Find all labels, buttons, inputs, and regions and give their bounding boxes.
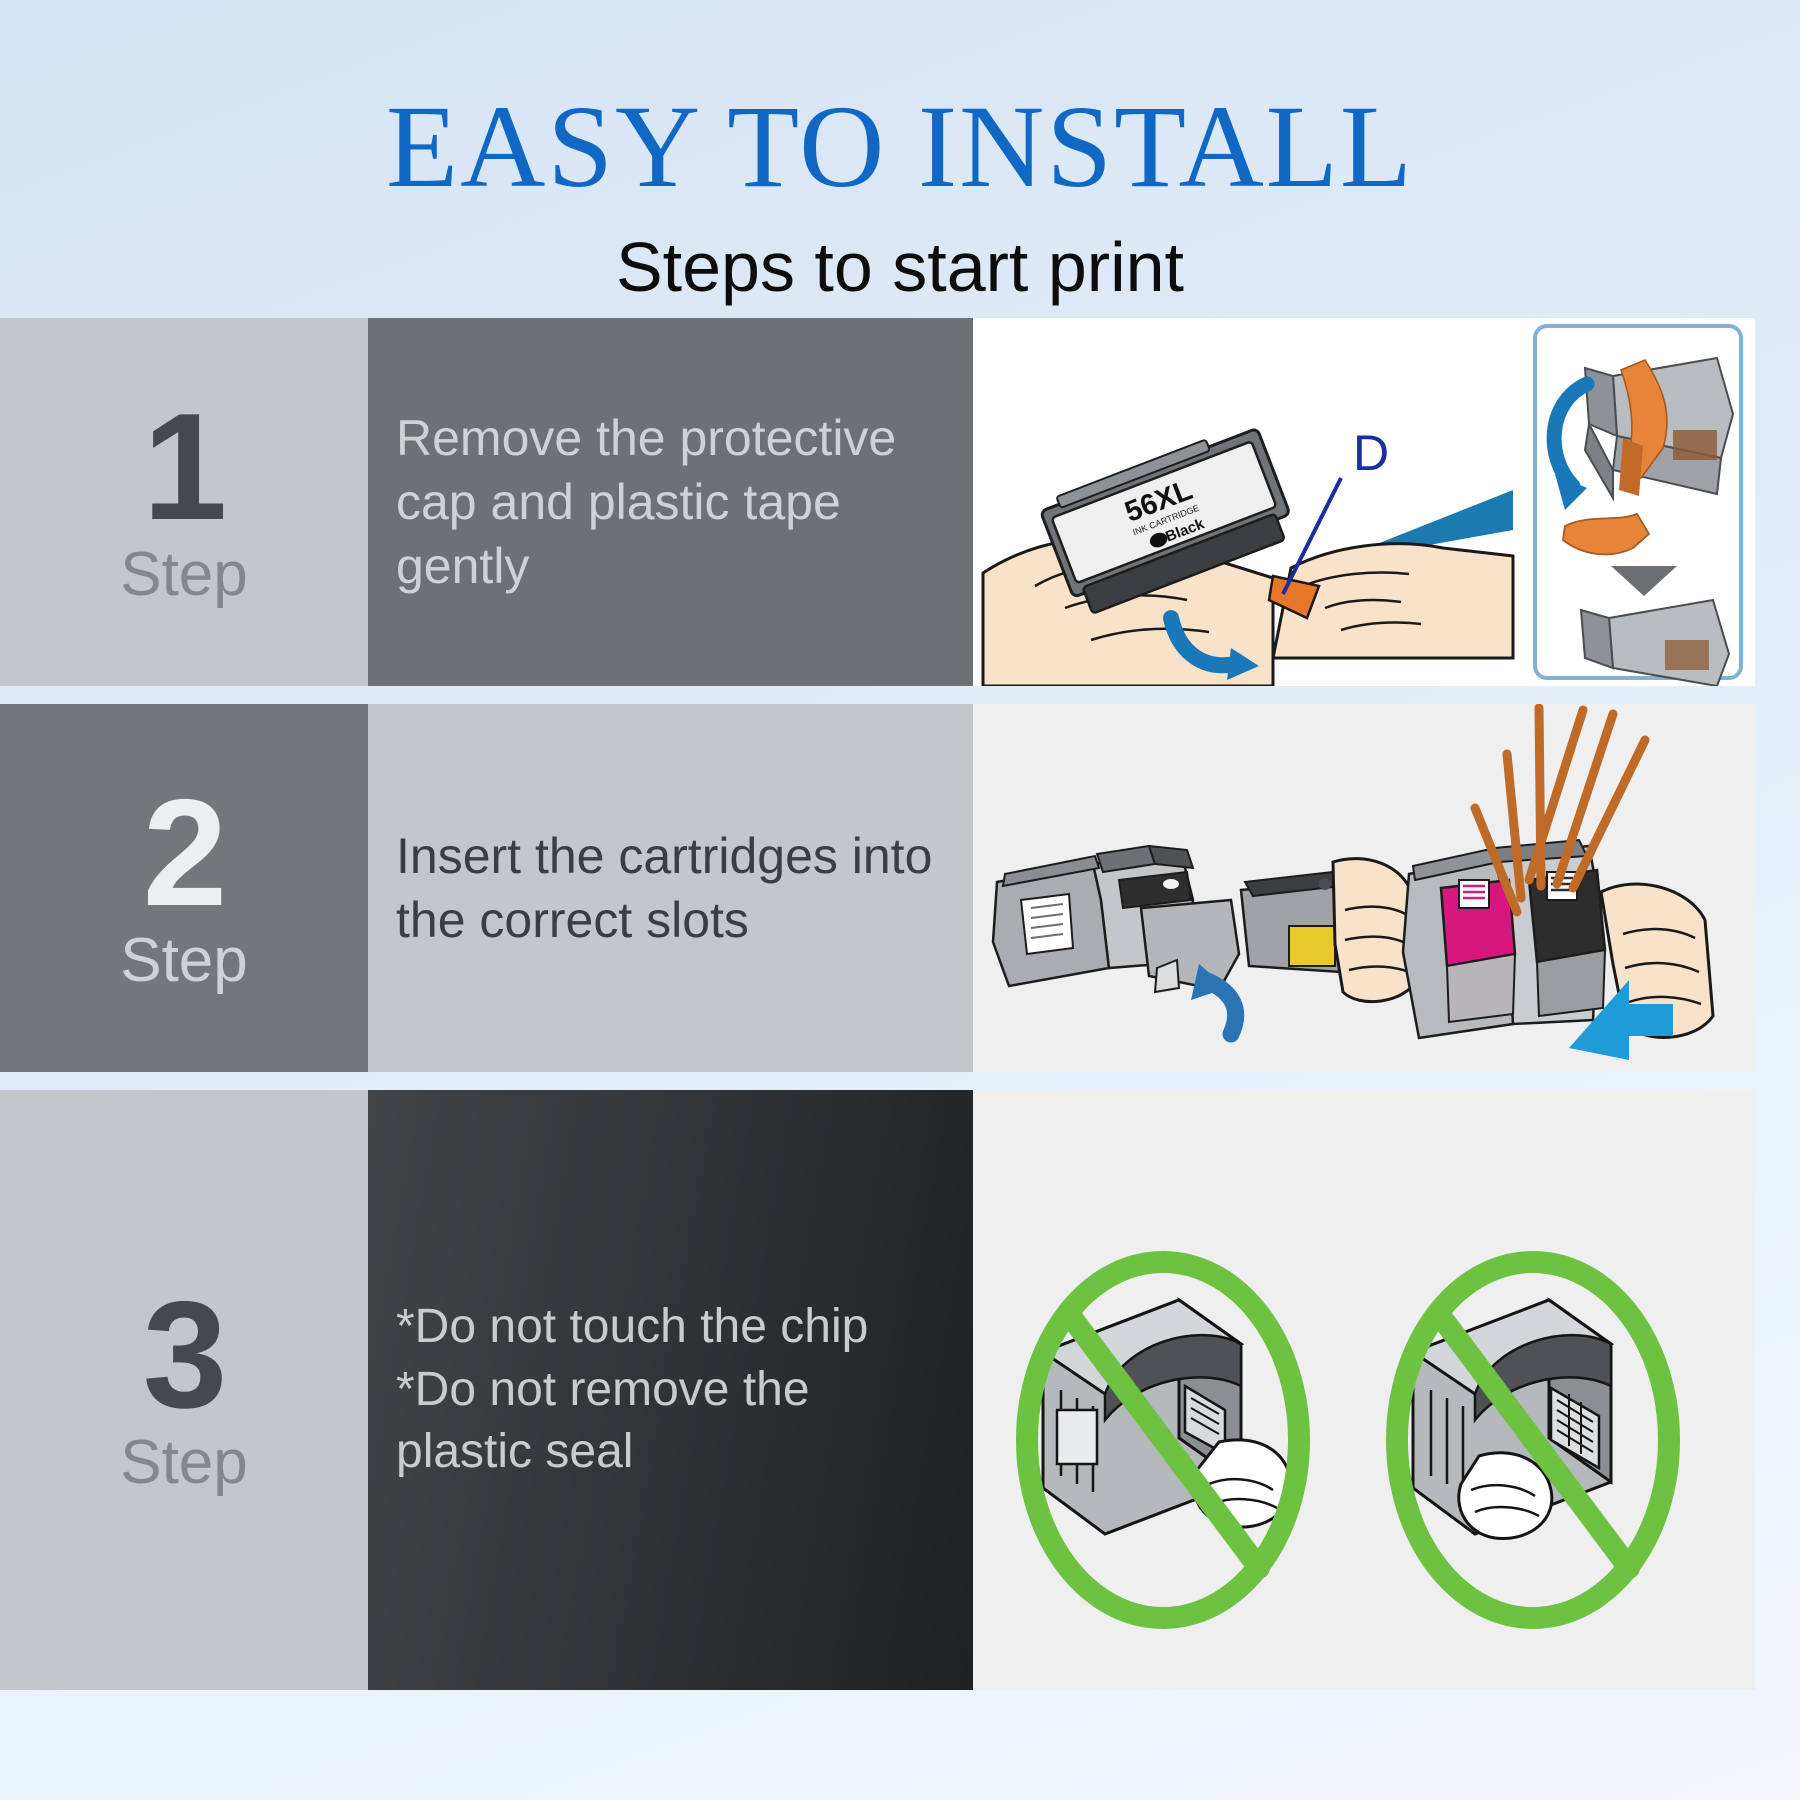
cartridge-mid [1141, 900, 1239, 992]
page-title: EASY TO INSTALL [0, 0, 1800, 206]
poster-header: EASY TO INSTALL Steps to start print [0, 0, 1800, 316]
prohibition-svg [973, 1090, 1755, 1690]
step-1-label: Step [120, 544, 248, 606]
step-3-number: 3 [143, 1286, 226, 1426]
step-3-description: *Do not touch the chip *Do not remove th… [396, 1296, 868, 1483]
step-2-number: 2 [143, 784, 226, 924]
step-2-illustration [973, 704, 1755, 1072]
step-row-3: 3 Step *Do not touch the chip *Do not re… [0, 1090, 1755, 1690]
step-row-2: 2 Step Insert the cartridges into the co… [0, 704, 1755, 1072]
step-1-inset-diagram [1535, 326, 1741, 686]
step-1-description: Remove the protective cap and plastic ta… [396, 406, 896, 598]
step-2-description: Insert the cartridges into the correct s… [396, 824, 932, 952]
step-3-label: Step [120, 1432, 248, 1494]
callout-letter-d: D [1353, 425, 1389, 481]
step-3-text-panel: *Do not touch the chip *Do not remove th… [368, 1090, 973, 1690]
step-2-text-panel: Insert the cartridges into the correct s… [368, 704, 973, 1072]
page-subtitle: Steps to start print [0, 206, 1800, 302]
step-1-text-panel: Remove the protective cap and plastic ta… [368, 318, 973, 686]
step-1-number: 1 [143, 398, 226, 538]
step-row-1: 1 Step Remove the protective cap and pla… [0, 318, 1755, 686]
step-1-illustration: 56XL INK CARTRIDGE Black D [973, 318, 1755, 686]
step-3-illustration [973, 1090, 1755, 1690]
step-3-number-panel: 3 Step [0, 1090, 368, 1690]
insert-cartridges-svg [973, 704, 1755, 1072]
infographic-poster: EASY TO INSTALL Steps to start print 1 S… [0, 0, 1800, 1800]
step-2-number-panel: 2 Step [0, 704, 368, 1072]
remove-cap-and-tape-svg: 56XL INK CARTRIDGE Black D [973, 318, 1755, 686]
step-2-label: Step [120, 930, 248, 992]
step-1-number-panel: 1 Step [0, 318, 368, 686]
yellow-contact-strip [1289, 926, 1335, 966]
